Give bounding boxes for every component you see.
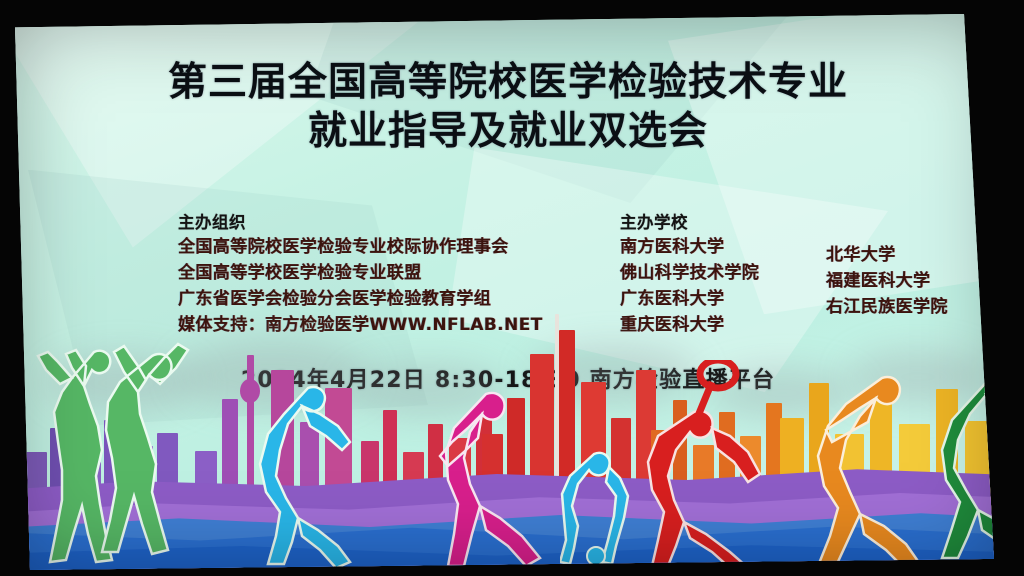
athlete-runner-blue: [252, 380, 362, 570]
organizer-item: 广东省医学会检验分会医学检验教育学组: [178, 287, 543, 313]
school-item: 北华大学: [826, 243, 948, 269]
school-item: 佛山科学技术学院: [620, 261, 759, 287]
athlete-runner-darkgreen: [938, 368, 1008, 560]
title-line-2: 就业指导及就业双选会: [8, 107, 1008, 156]
projection-screen: 第三届全国高等院校医学检验技术专业 就业指导及就业双选会 主办组织 全国高等院校…: [8, 14, 1008, 570]
school-item: 右江民族医学院: [826, 295, 948, 321]
school-item: 南方医科大学: [620, 235, 759, 261]
slide-title: 第三届全国高等院校医学检验技术专业 就业指导及就业双选会: [8, 58, 1008, 156]
athlete-soccer-blue: [560, 448, 632, 566]
athlete-tennis-pink: [428, 384, 558, 570]
athlete-badminton-red: [638, 360, 770, 570]
photo-frame: 第三届全国高等院校医学检验技术专业 就业指导及就业双选会 主办组织 全国高等院校…: [0, 0, 1024, 576]
organizer-item: 全国高等学校医学检验专业联盟: [178, 261, 543, 287]
athlete-basketball-green-2: [94, 338, 214, 564]
title-line-1: 第三届全国高等院校医学检验技术专业: [168, 60, 848, 105]
host-schools-column-2: 北华大学 福建医科大学 右江民族医学院: [826, 243, 948, 320]
school-item: 福建医科大学: [826, 269, 948, 295]
host-schools-heading: 主办学校: [620, 210, 759, 235]
school-item: 广东医科大学: [620, 287, 759, 313]
sports-artwork: [8, 340, 1008, 570]
athlete-runner-orange: [798, 364, 926, 570]
organizers-heading: 主办组织: [178, 210, 543, 235]
organizer-item: 全国高等院校医学检验专业校际协作理事会: [178, 235, 543, 261]
